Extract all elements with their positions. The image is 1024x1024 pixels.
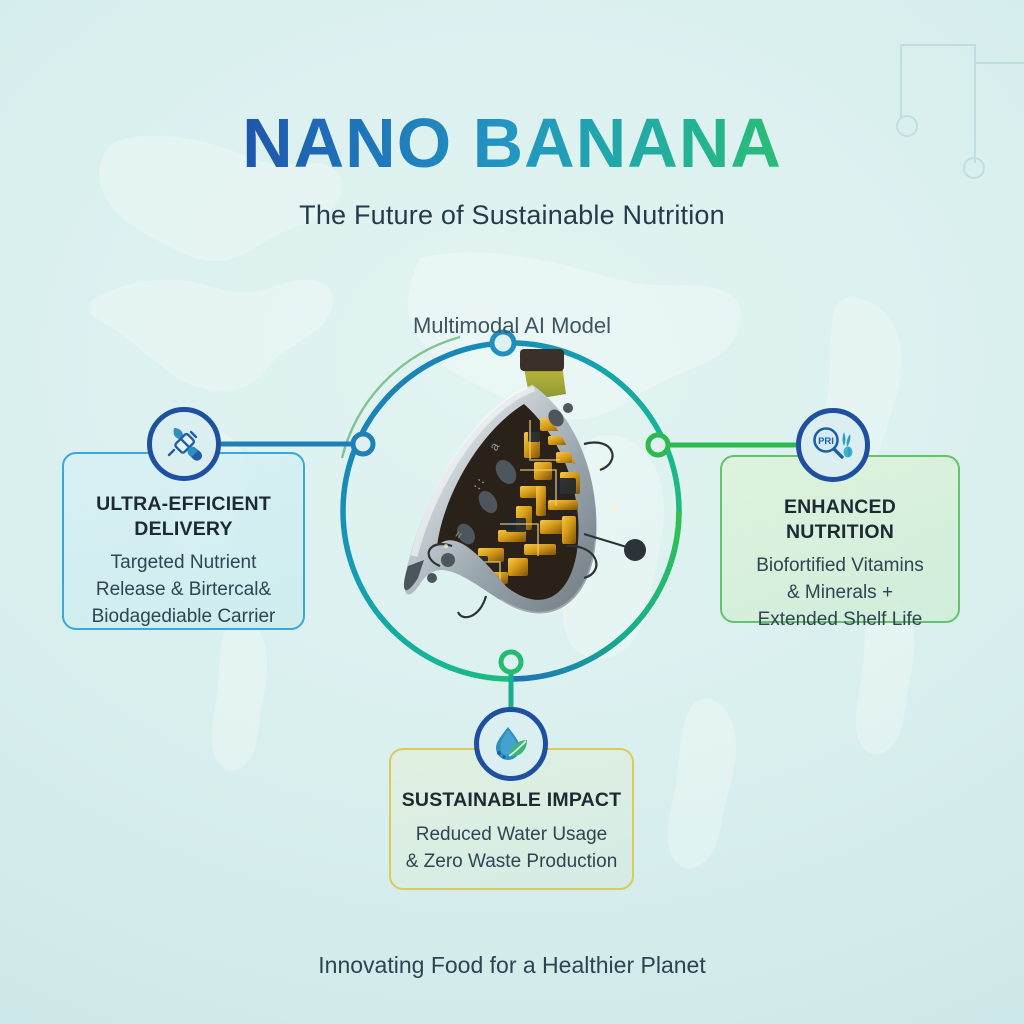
svg-text:=: = [452,529,468,543]
header-block: NANO BANANA The Future of Sustainable Nu… [0,108,1024,231]
card-title: ENHANCED NUTRITION [730,495,950,544]
infographic-root: a :: = NANO BANANA The Future of Sustain… [0,0,1024,1024]
card-title: ULTRA-EFFICIENT DELIVERY [72,492,295,541]
card-body: Biofortified Vitamins & Minerals + Exten… [732,553,948,634]
card-body-line: Release & Birtercal& [74,577,293,604]
syringe-leaf-capsule-icon[interactable] [147,407,221,481]
page-title: NANO BANANA [0,108,1024,178]
card-body-line: Biofortified Vitamins [732,553,948,580]
card-body-line: & Minerals + [732,580,948,607]
magnifier-grain-icon[interactable]: PRI [796,408,870,482]
card-body: Targeted Nutrient Release & Birtercal& B… [74,550,293,631]
footer-tagline: Innovating Food for a Healthier Planet [0,952,1024,979]
card-body-line: Reduced Water Usage [401,822,622,849]
hub-label: Multimodal AI Model [0,313,1024,339]
card-body-line: Biodagediable Carrier [74,604,293,631]
card-body-line: Targeted Nutrient [74,550,293,577]
card-body-line: Extended Shelf Life [732,607,948,634]
card-title: SUSTAINABLE IMPACT [399,788,624,813]
water-drop-leaf-icon[interactable] [474,707,548,781]
svg-text:a: a [487,439,504,454]
card-body-line: & Zero Waste Production [401,849,622,876]
svg-text:::: :: [470,474,490,494]
magnifier-inner-text: PRI [818,436,834,447]
card-body: Reduced Water Usage & Zero Waste Product… [401,822,622,876]
page-subtitle: The Future of Sustainable Nutrition [0,200,1024,231]
